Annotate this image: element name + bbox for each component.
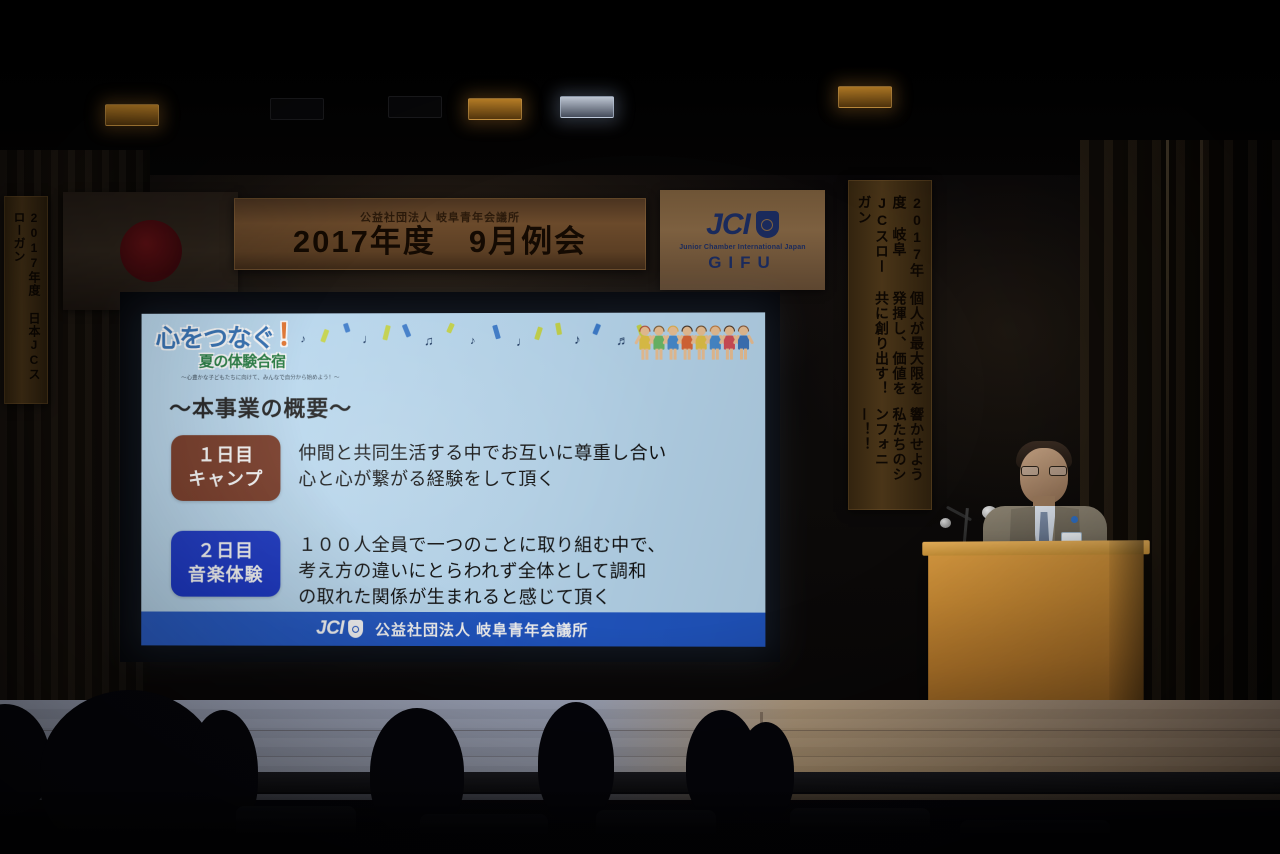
banner-main-event: 公益社団法人 岐阜青年会議所 2017年度 9月例会: [234, 198, 646, 270]
confetti-icon: [446, 322, 455, 333]
jci-shield-icon: [756, 211, 779, 238]
audience-silhouettes: [0, 680, 1280, 854]
slide-title: ～本事業の概要～: [169, 391, 352, 423]
slide-logo-subtitle: 夏の体験合宿: [199, 350, 344, 371]
badge-day1: １日目 キャンプ: [171, 435, 280, 500]
confetti-icon: [592, 323, 601, 335]
slide-logo-main: 心をつなぐ: [155, 326, 274, 351]
ceiling-light-icon: [560, 96, 614, 118]
day2-text-line-2: 考え方の違いにとらわれず全体として調和: [298, 559, 666, 585]
banner-right-line-2: 個人が最大限を発揮し、価値を共に創り出す！: [855, 291, 925, 400]
music-note-icon: ♪: [470, 335, 475, 347]
confetti-icon: [402, 324, 411, 338]
slide-logo-tagline: ～心豊かな子どもたちに向けて、みんなで自分から始めよう！～: [181, 373, 344, 381]
ceiling-light-icon: [388, 96, 442, 118]
banner-left-slogan: 2017年度 日本JCスローガン: [4, 196, 48, 404]
jci-shield-inner-icon: [352, 625, 359, 632]
day2-text-line-1: １００人全員で一つのことに取り組む中で、: [298, 533, 666, 559]
badge-day1-line2: キャンプ: [175, 468, 276, 492]
ceiling-light-icon: [270, 98, 324, 120]
banner-title: 2017年度 9月例会: [293, 225, 587, 259]
children-illustration: [638, 318, 759, 364]
presentation-slide: 心をつなぐ ！ 夏の体験合宿 ～心豊かな子どもたちに向けて、みんなで自分から始め…: [141, 312, 765, 646]
jci-shield-inner-icon: [761, 219, 773, 231]
slide-row-day1-text: 仲間と共同生活する中でお互いに尊重し合い 心と心が繋がる経験をして頂く: [298, 435, 666, 493]
badge-day2: ２日目 音楽体験: [171, 531, 280, 596]
banner-right-line-3: 響かせよう私たちのシンフォニー！！: [855, 407, 925, 495]
ceiling-light-icon: [468, 98, 522, 120]
microphone-icon: [940, 518, 951, 528]
child-figure: [695, 327, 708, 365]
slide-row-day1: １日目 キャンプ 仲間と共同生活する中でお互いに尊重し合い 心と心が繋がる経験を…: [171, 435, 666, 501]
badge-day2-line1: ２日目: [175, 540, 276, 564]
curtain-highlight: [1166, 140, 1169, 720]
jci-tagline: Junior Chamber International Japan: [679, 244, 806, 251]
banner-jci-gifu: JCI Junior Chamber International Japan G…: [660, 190, 825, 290]
hinomaru-circle: [120, 220, 182, 282]
day1-text-line-2: 心と心が繋がる経験をして頂く: [298, 467, 666, 493]
child-figure: [709, 327, 722, 365]
banner-left-line-1: 2017年度 日本JCスローガン: [11, 211, 41, 389]
confetti-icon: [534, 326, 543, 340]
ceiling-light-icon: [838, 86, 892, 108]
slide-footer: JCI 公益社団法人 岐阜青年会議所: [141, 611, 765, 646]
speaker-lapel-pin: [1071, 516, 1078, 523]
confetti-icon: [492, 325, 501, 340]
jci-chapter: GIFU: [708, 253, 777, 273]
confetti-icon: [382, 325, 390, 341]
banner-right-line-1: 2017年度 岐阜JCスローガン: [855, 195, 925, 283]
child-figure: [652, 327, 665, 365]
child-figure: [723, 326, 736, 364]
music-notes-decoration: ♪ ♩ ♫ ♪ ♩ ♪ ♬ ♩: [298, 321, 624, 352]
curtain-highlight: [1200, 140, 1203, 720]
day1-text-line-1: 仲間と共同生活する中でお互いに尊重し合い: [298, 441, 666, 467]
badge-day2-line2: 音楽体験: [175, 563, 276, 587]
jci-shield-icon: [348, 620, 363, 638]
jci-logo-row: JCI: [706, 208, 779, 242]
music-note-icon: ♫: [424, 333, 434, 348]
slide-footer-jci-logo: JCI: [316, 618, 363, 640]
day2-text-line-3: の取れた関係が生まれると感じて頂く: [298, 585, 666, 612]
child-figure: [667, 327, 680, 365]
ceiling-light-icon: [105, 104, 159, 126]
slide-footer-organization: 公益社団法人 岐阜青年会議所: [375, 618, 588, 639]
banner-right-slogan: 2017年度 岐阜JCスローガン 個人が最大限を発揮し、価値を共に創り出す！ 響…: [848, 180, 932, 510]
child-figure: [737, 326, 750, 364]
confetti-icon: [320, 329, 329, 343]
banner-subtitle: 公益社団法人 岐阜青年会議所: [360, 209, 520, 225]
music-note-icon: ♪: [300, 333, 305, 345]
audience-foreground-shadow: [0, 792, 1280, 854]
glasses-icon: [1020, 466, 1068, 476]
confetti-icon: [343, 323, 351, 333]
music-note-icon: ♪: [574, 332, 581, 347]
child-figure: [638, 327, 651, 365]
auditorium-scene: 2017年度 日本JCスローガン 公益社団法人 岐阜青年会議所 2017年度 9…: [0, 0, 1280, 854]
badge-day1-line1: １日目: [175, 444, 276, 468]
music-note-icon: ♩: [516, 334, 529, 349]
jci-wordmark: JCI: [706, 208, 750, 242]
slide-footer-wordmark: JCI: [316, 618, 344, 640]
slide-row-day2-text: １００人全員で一つのことに取り組む中で、 考え方の違いにとらわれず全体として調和…: [298, 531, 666, 611]
music-note-icon: ♩: [362, 331, 375, 346]
music-note-icon: ♬: [616, 333, 629, 348]
slide-row-day2: ２日目 音楽体験 １００人全員で一つのことに取り組む中で、 考え方の違いにとらわ…: [171, 531, 666, 611]
child-figure: [681, 327, 694, 365]
confetti-icon: [555, 323, 562, 336]
